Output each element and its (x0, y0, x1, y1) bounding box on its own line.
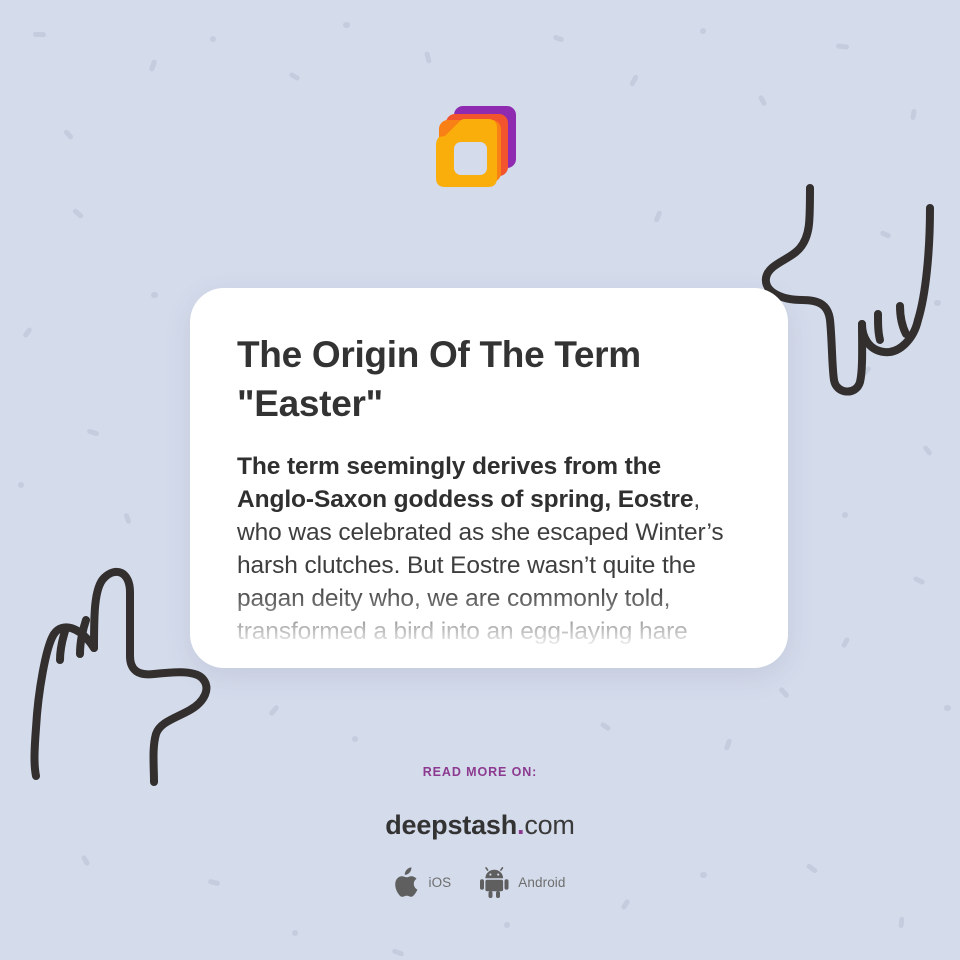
background-speck (424, 51, 432, 64)
background-speck (913, 576, 926, 586)
idea-body-lead: The term seemingly derives from the Angl… (237, 453, 693, 513)
android-store-label: Android (518, 875, 565, 890)
android-store-badge[interactable]: Android (479, 867, 565, 898)
background-speck (860, 365, 872, 377)
background-speck (836, 43, 849, 49)
background-speck (392, 948, 405, 957)
background-speck (72, 208, 84, 220)
ios-store-badge[interactable]: iOS (394, 867, 451, 898)
app-store-badges: iOS And (0, 867, 960, 898)
background-speck (879, 230, 891, 239)
read-more-label: READ MORE ON: (0, 765, 960, 779)
idea-body-text: The term seemingly derives from the Angl… (237, 450, 741, 668)
background-speck (87, 428, 100, 436)
background-speck (934, 300, 941, 306)
background-speck (898, 917, 904, 928)
background-speck (841, 636, 851, 648)
background-speck (944, 705, 951, 711)
background-speck (552, 34, 564, 42)
background-speck (33, 32, 46, 37)
apple-icon (394, 867, 420, 898)
background-speck (653, 210, 662, 223)
android-icon (479, 867, 510, 898)
page-title: The Origin Of The Term "Easter" (237, 330, 741, 428)
footer: READ MORE ON: deepstash.com iOS (0, 765, 960, 898)
background-speck (758, 94, 768, 106)
idea-card: The Origin Of The Term "Easter" The term… (190, 288, 788, 668)
deepstash-logo-icon (428, 104, 524, 200)
idea-body-rest: , who was celebrated as she escaped Wint… (237, 486, 724, 668)
background-speck (268, 704, 280, 716)
share-card-canvas: The Origin Of The Term "Easter" The term… (0, 0, 960, 960)
brand-name: deepstash (385, 810, 517, 840)
background-speck (151, 292, 158, 298)
background-speck (292, 930, 298, 936)
background-speck (910, 109, 917, 121)
background-speck (724, 738, 733, 751)
background-speck (700, 28, 706, 34)
brand-tld: com (524, 810, 574, 840)
background-speck (352, 736, 358, 742)
background-speck (343, 22, 350, 28)
background-speck (842, 512, 848, 518)
background-speck (504, 922, 510, 928)
idea-card-content: The Origin Of The Term "Easter" The term… (190, 288, 788, 668)
background-speck (620, 899, 630, 911)
background-speck (18, 482, 24, 488)
brand-wordmark[interactable]: deepstash.com (0, 810, 960, 841)
background-speck (288, 72, 300, 82)
background-speck (123, 512, 131, 524)
background-speck (778, 686, 790, 698)
background-speck (22, 327, 32, 339)
background-speck (149, 59, 158, 72)
background-speck (600, 721, 612, 731)
background-speck (629, 74, 639, 87)
background-speck (63, 129, 74, 141)
background-speck (210, 36, 216, 42)
background-speck (922, 445, 933, 457)
pointing-hand-up-illustration (18, 558, 218, 796)
ios-store-label: iOS (428, 875, 451, 890)
